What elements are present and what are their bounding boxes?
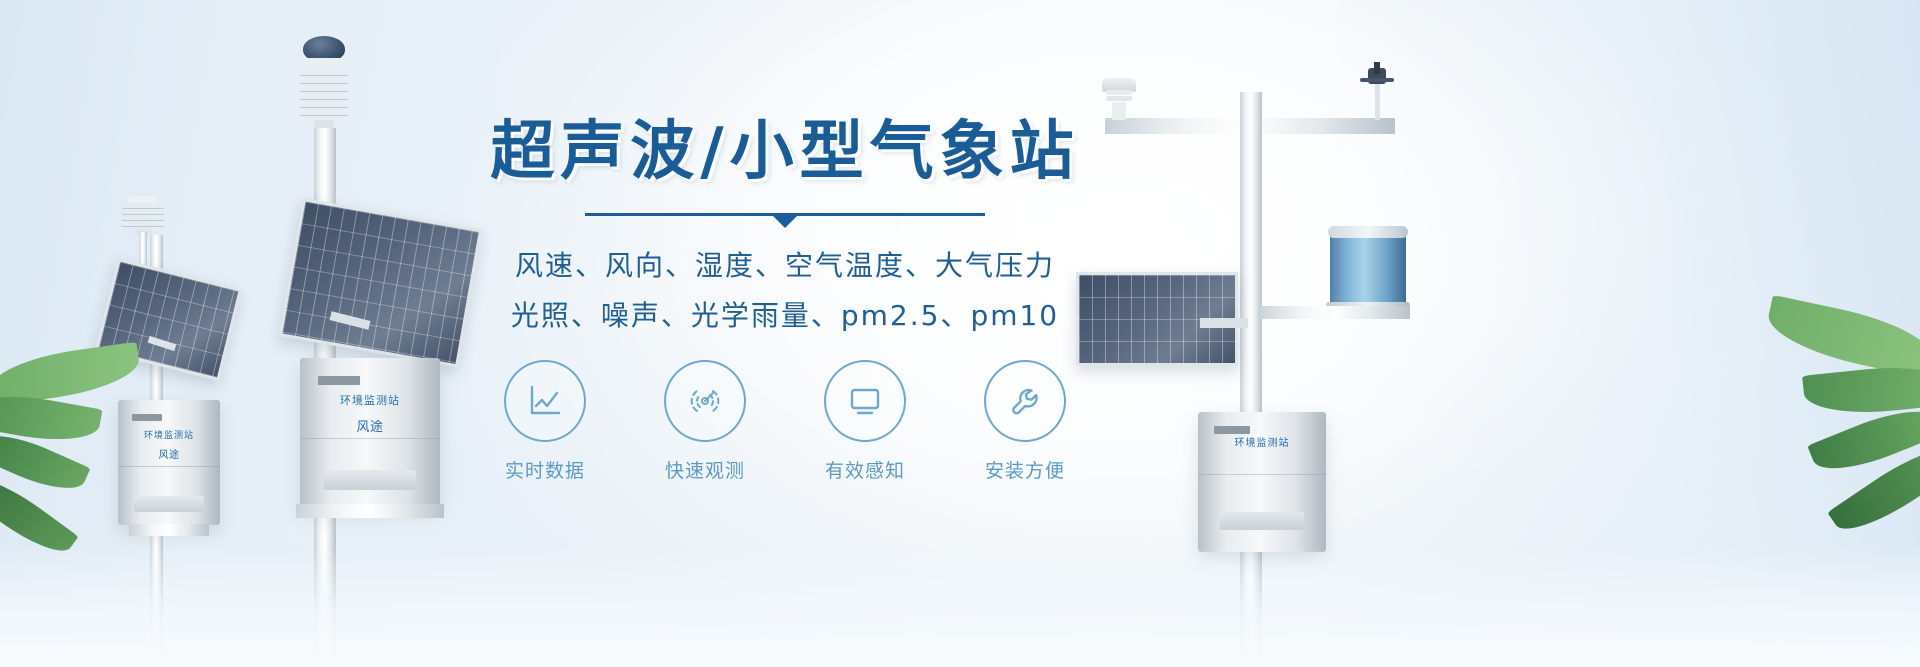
station-center-base [296, 504, 444, 518]
feature-item-effective-sensing[interactable]: 有效感知 [806, 360, 924, 483]
station-center-cabinet-label: 环境监测站 [300, 392, 440, 408]
feature-item-realtime-data[interactable]: 实时数据 [486, 360, 604, 483]
feature-item-fast-observation[interactable]: 快速观测 [646, 360, 764, 483]
station-left-cabinet-brand: 风途 [118, 446, 220, 461]
product-banner: 环境监测站 风途 环境监测站 风途 [0, 0, 1920, 667]
station-center-cabinet: 环境监测站 风途 [300, 358, 440, 506]
wrench-icon [984, 360, 1066, 442]
banner-copy: 超声波/小型气象站 风速、风向、湿度、空气温度、大气压力 光照、噪声、光学雨量、… [445, 118, 1125, 340]
feature-label: 有效感知 [806, 456, 924, 483]
station-left-cabinet: 环境监测站 风途 [118, 400, 220, 525]
subtitle-line-2: 光照、噪声、光学雨量、pm2.5、pm10 [445, 292, 1125, 340]
feature-label: 快速观测 [646, 456, 764, 483]
feature-label: 安装方便 [966, 456, 1084, 483]
feature-item-easy-installation[interactable]: 安装方便 [966, 360, 1084, 483]
page-title: 超声波/小型气象站 [445, 118, 1125, 187]
station-center-cabinet-brand: 风途 [300, 416, 440, 435]
station-right-panel-bracket [1200, 318, 1248, 328]
feature-list: 实时数据 快速观测 有效感知 [445, 360, 1125, 483]
title-divider [585, 213, 985, 216]
station-right-cabinet: 环境监测站 [1198, 412, 1326, 552]
station-left-cabinet-label: 环境监测站 [118, 428, 220, 441]
monitor-icon [824, 360, 906, 442]
station-right-shelf-arm [1258, 306, 1410, 319]
line-chart-icon [504, 360, 586, 442]
ground-fade [0, 547, 1920, 667]
station-left-base [129, 524, 209, 536]
radar-observation-icon [664, 360, 746, 442]
station-right-cabinet-label: 环境监测站 [1198, 434, 1326, 449]
station-right-mast [1240, 92, 1262, 667]
subtitle-line-1: 风速、风向、湿度、空气温度、大气压力 [445, 242, 1125, 290]
feature-label: 实时数据 [486, 456, 604, 483]
radiation-shield [300, 70, 348, 130]
station-left-sensor-head [122, 196, 164, 236]
